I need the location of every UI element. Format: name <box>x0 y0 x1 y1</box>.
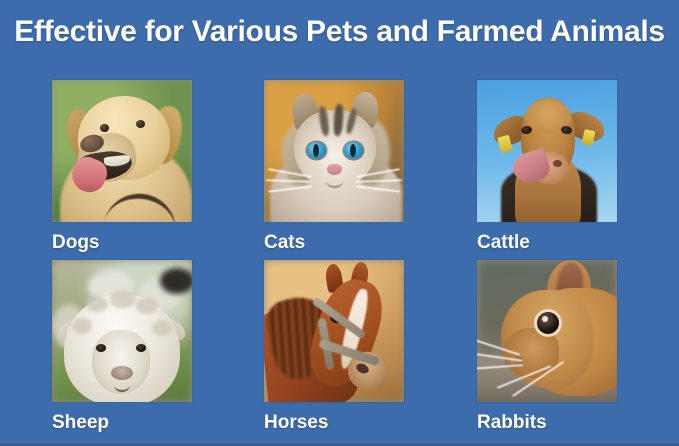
sheep-mouth <box>114 378 130 392</box>
cell-label-cats: Cats <box>264 232 404 254</box>
sheep-background-flock <box>160 268 192 294</box>
grid-cell-cats: Cats <box>264 80 404 254</box>
page-title: Effective for Various Pets and Farmed An… <box>0 13 679 51</box>
sheep-wool-curl <box>110 290 136 308</box>
cat-photo <box>264 80 404 222</box>
dog-photo <box>52 80 192 222</box>
cattle-photo <box>477 80 617 222</box>
cell-label-horses: Horses <box>264 412 404 434</box>
grid-cell-sheep: Sheep <box>52 260 192 434</box>
cat-mouth <box>326 174 343 188</box>
animal-grid: Dogs <box>52 80 627 420</box>
sheep-wool-curl <box>152 320 172 336</box>
grid-cell-dogs: Dogs <box>52 80 192 254</box>
sheep-right-eye <box>136 344 146 352</box>
grid-cell-horses: Horses <box>264 260 404 434</box>
sheep-wool-curl <box>86 296 108 312</box>
sheep-photo <box>52 260 192 402</box>
rabbit-eye-highlight <box>542 316 548 322</box>
poster-container: Effective for Various Pets and Farmed An… <box>0 0 679 446</box>
sheep-wool-curl <box>136 298 158 314</box>
horse-photo <box>264 260 404 402</box>
sheep-left-eye <box>96 344 106 352</box>
grid-cell-cattle: Cattle <box>477 80 617 254</box>
cell-label-rabbits: Rabbits <box>477 412 617 434</box>
cell-label-cattle: Cattle <box>477 232 617 254</box>
cell-label-sheep: Sheep <box>52 412 192 434</box>
rabbit-eye <box>537 312 559 334</box>
cat-left-pupil <box>313 144 319 157</box>
dog-right-eye <box>136 120 145 128</box>
cat-right-pupil <box>350 144 356 157</box>
sheep-wool-curl <box>72 318 92 334</box>
rabbit-photo <box>477 260 617 402</box>
cell-label-dogs: Dogs <box>52 232 192 254</box>
dog-left-eye <box>100 124 109 132</box>
cattle-right-nostril <box>553 160 562 167</box>
grid-cell-rabbits: Rabbits <box>477 260 617 434</box>
